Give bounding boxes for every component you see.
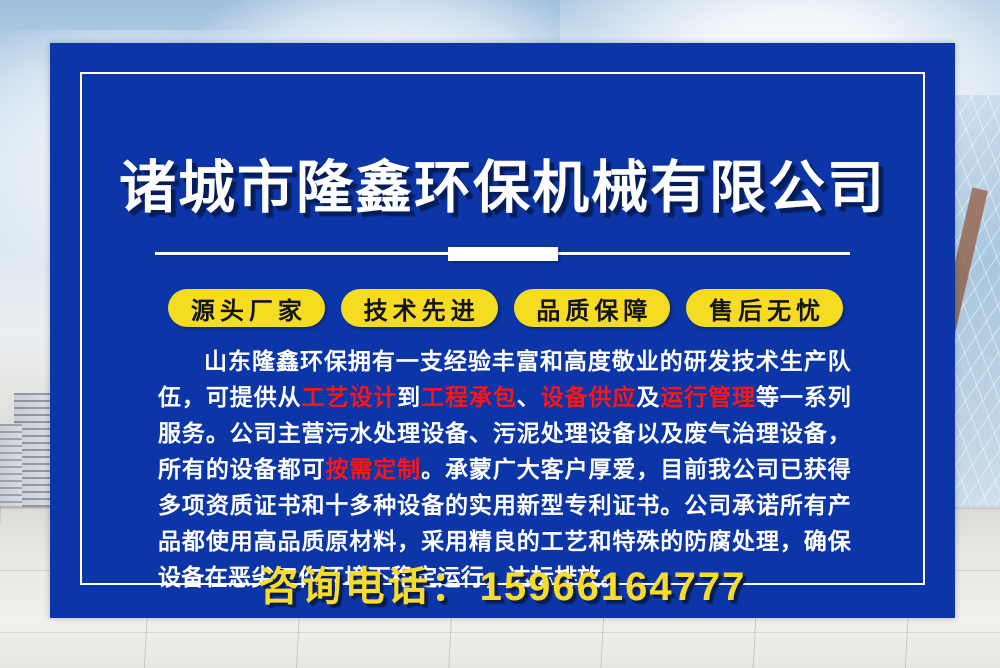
- desc-highlight-process-design: 工艺设计: [302, 384, 398, 410]
- divider-center-block: [448, 247, 558, 261]
- company-description: 山东隆鑫环保拥有一支经验丰富和高度敬业的研发技术生产队伍，可提供从工艺设计到工程…: [158, 343, 851, 595]
- badge-advanced-technology[interactable]: 技术先进: [341, 289, 498, 327]
- desc-highlight-project-contracting: 工程承包: [421, 384, 517, 410]
- page-title: 诸城市隆鑫环保机械有限公司: [50, 155, 955, 221]
- city-building-short: [0, 424, 22, 516]
- title-divider: [155, 252, 850, 255]
- feature-badge-row: 源头厂家 技术先进 品质保障 售后无忧: [168, 289, 843, 327]
- badge-after-sales[interactable]: 售后无忧: [686, 289, 843, 327]
- phone-number[interactable]: 15966164777: [480, 565, 747, 609]
- phone-label: 咨询电话：: [259, 565, 474, 609]
- badge-source-factory[interactable]: 源头厂家: [168, 289, 325, 327]
- desc-segment-4: 及: [636, 384, 660, 410]
- desc-segment-2: 到: [397, 384, 421, 410]
- poster-root: 诸城市隆鑫环保机械有限公司 源头厂家 技术先进 品质保障 售后无忧 山东隆鑫环保…: [0, 0, 1000, 668]
- desc-highlight-equipment-supply: 设备供应: [541, 384, 637, 410]
- contact-phone-line: 咨询电话：15966164777: [50, 561, 955, 613]
- desc-highlight-operation-management: 运行管理: [660, 384, 756, 410]
- badge-quality-guarantee[interactable]: 品质保障: [514, 289, 671, 327]
- desc-segment-3: 、: [517, 384, 541, 410]
- desc-highlight-custom-made: 按需定制: [325, 456, 421, 482]
- blue-info-panel: 诸城市隆鑫环保机械有限公司 源头厂家 技术先进 品质保障 售后无忧 山东隆鑫环保…: [50, 43, 955, 618]
